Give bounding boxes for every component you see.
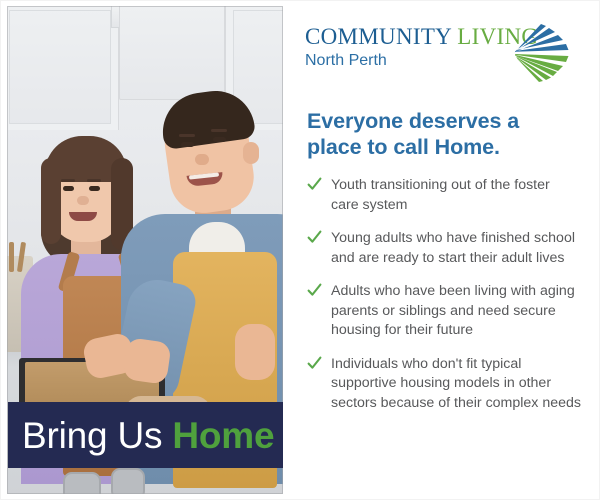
check-icon bbox=[307, 356, 322, 371]
list-item-label: Individuals who don't fit typical suppor… bbox=[331, 356, 581, 411]
eye-left bbox=[181, 142, 194, 147]
cookie-cutter-icon-1 bbox=[63, 472, 101, 494]
cabinet-left-icon bbox=[7, 6, 119, 132]
cookie-cutter-icon-2 bbox=[111, 468, 145, 494]
list-item-label: Youth transitioning out of the foster ca… bbox=[331, 177, 550, 213]
community-living-diamond-sunburst-icon bbox=[512, 22, 570, 84]
eye-right bbox=[89, 186, 100, 191]
list-item: Young adults who have finished school an… bbox=[306, 229, 581, 268]
check-icon bbox=[307, 283, 322, 298]
list-item-label: Young adults who have finished school an… bbox=[331, 230, 575, 266]
eye-left bbox=[63, 186, 74, 191]
bring-us-home-banner: Bring Us Home bbox=[8, 402, 283, 468]
banner-text: Bring Us Home bbox=[8, 417, 274, 454]
nose bbox=[77, 196, 89, 205]
nose bbox=[195, 154, 209, 165]
hand-right bbox=[122, 337, 171, 385]
eyebrow-right bbox=[87, 179, 101, 182]
logo-line-2: North Perth bbox=[305, 51, 538, 71]
ear bbox=[243, 142, 259, 164]
logo-word-community: COMMUNITY bbox=[305, 24, 457, 49]
check-icon bbox=[307, 230, 322, 245]
hair-side-left bbox=[41, 158, 61, 244]
check-icon bbox=[307, 177, 322, 192]
list-item: Adults who have been living with aging p… bbox=[306, 282, 581, 341]
list-item: Youth transitioning out of the foster ca… bbox=[306, 176, 581, 215]
poster-root: Bring Us Home COMMUNITY LIVING North Per… bbox=[0, 0, 600, 500]
eyebrow-right bbox=[211, 129, 227, 132]
eyebrow-left bbox=[61, 179, 75, 182]
banner-text-white: Bring Us bbox=[22, 415, 172, 456]
hand-resting bbox=[235, 324, 275, 380]
eligibility-list: Youth transitioning out of the foster ca… bbox=[306, 176, 582, 413]
organization-logo: COMMUNITY LIVING North Perth bbox=[305, 24, 582, 86]
content-panel: COMMUNITY LIVING North Perth bbox=[288, 0, 600, 500]
page-title: Everyone deserves a place to call Home. bbox=[307, 108, 565, 160]
banner-text-green: Home bbox=[172, 415, 274, 456]
logo-line-1: COMMUNITY LIVING bbox=[305, 24, 538, 50]
list-item: Individuals who don't fit typical suppor… bbox=[306, 355, 581, 414]
eyebrow-left bbox=[179, 134, 195, 137]
logo-wordmark: COMMUNITY LIVING North Perth bbox=[305, 24, 538, 71]
eye-right bbox=[213, 137, 226, 142]
list-item-label: Adults who have been living with aging p… bbox=[331, 283, 575, 338]
